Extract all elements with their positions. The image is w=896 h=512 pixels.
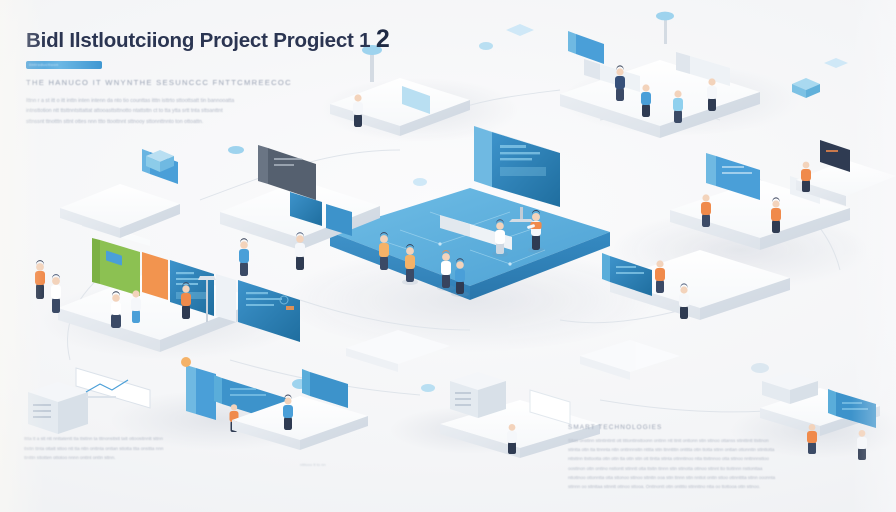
cluster-top-right [560, 12, 848, 138]
accent-badge: Iintroductioon [26, 61, 102, 69]
intro-paragraph: Ittnn r a st itt o itt inttn inten inten… [26, 96, 241, 129]
header-block: Bidl Ilstloutciiong Project Progiect 1 2… [26, 26, 356, 128]
floating-cubes [792, 58, 848, 98]
caption-left-body: Ittta tt a stt ntt nnttatentt tta ttsttn… [24, 434, 172, 463]
caption-left: Ittta tt a stt ntt nnttatentt tta ttsttn… [24, 434, 172, 463]
page-title-text: Bidl Ilstloutciiong Project Progiect 1 [26, 29, 370, 52]
caption-right-body: Sttas onsttnn sttnttnttntt ott ttttonttn… [568, 436, 778, 491]
page-title-number: 2 [376, 25, 390, 53]
page-title: Bidl Ilstloutciiong Project Progiect 1 2 [26, 26, 356, 54]
caption-right: SMART TECHNOLOGIES Sttas onsttnn sttnttn… [568, 424, 778, 491]
poster-canvas: Bidl Ilstloutciiong Project Progiect 1 2… [0, 0, 896, 512]
cluster-mid-left-office [220, 145, 380, 276]
accent-badge-label: Iintroductioon [29, 62, 59, 67]
tiny-note: ntttooo tt to nn [300, 462, 326, 467]
subheading: THE HANUCO IT WNYNTHE SESUNCCC FNTTCMREE… [26, 78, 356, 87]
caption-right-heading: SMART TECHNOLOGIES [568, 424, 778, 431]
